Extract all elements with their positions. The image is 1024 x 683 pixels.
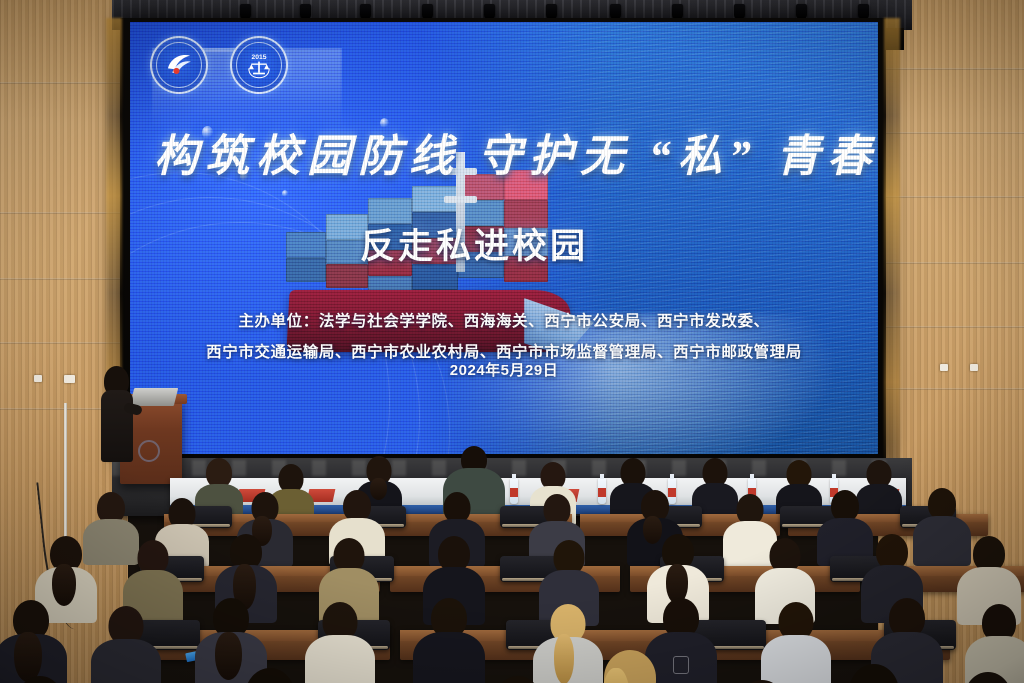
attendee-foreground: [822, 664, 926, 683]
lecture-hall-photo: 2015 构筑校园防线 守护无 “私” 青春 反走私进校园 主办单位：法学与社会…: [0, 0, 1024, 683]
ceiling-spotlight: [240, 4, 251, 19]
attendee: [92, 606, 160, 683]
attendee-foreground: [938, 672, 1024, 683]
ceiling-spotlight: [422, 4, 433, 19]
podium-laptop: [130, 388, 178, 406]
attendee: [762, 602, 830, 683]
ceiling-spotlight: [300, 4, 311, 19]
event-date: 2024年5月29日: [154, 359, 854, 380]
attendee-foreground: [0, 676, 90, 683]
ceiling-spotlight: [672, 4, 683, 19]
attendee-foreground: [218, 668, 322, 683]
ceiling-spotlight: [484, 4, 495, 19]
ceiling-spotlight: [858, 4, 869, 19]
attendee: [0, 600, 66, 683]
ceiling-spotlight: [610, 4, 621, 19]
wall-outlet-left-b: [64, 375, 75, 383]
wall-outlet-left-a: [34, 375, 42, 382]
attendee-foreground: [468, 676, 568, 683]
attendee: [414, 598, 484, 683]
presentation-led-screen: 2015 构筑校园防线 守护无 “私” 青春 反走私进校园 主办单位：法学与社会…: [130, 22, 878, 454]
ceiling-spotlight: [360, 4, 371, 19]
law-sociology-school-seal-icon: 2015: [230, 36, 288, 94]
qinghai-normal-university-seal-icon: [150, 36, 208, 94]
audience-area: CECIEN · · · · · · · ·: [0, 440, 1024, 683]
screen-logo-row: 2015: [150, 36, 288, 94]
ceiling-spotlight: [546, 4, 557, 19]
presentation-headline: 构筑校园防线 守护无 “私” 青春: [154, 120, 860, 184]
wall-plate-right-a: [940, 364, 948, 371]
wall-plate-right-b: [970, 364, 978, 371]
attendee-foreground-cecien: CECIEN · · · · · · · ·: [568, 650, 692, 683]
presentation-subheadline: 反走私进校园: [154, 218, 794, 269]
ceiling-spotlight: [796, 4, 807, 19]
right-accent-light-column: [884, 18, 900, 462]
svg-text:2015: 2015: [251, 54, 266, 61]
organizers-line-1: 主办单位：法学与社会学学院、西海海关、西宁市公安局、西宁市发改委、: [154, 306, 854, 337]
ceiling-spotlight: [734, 4, 745, 19]
